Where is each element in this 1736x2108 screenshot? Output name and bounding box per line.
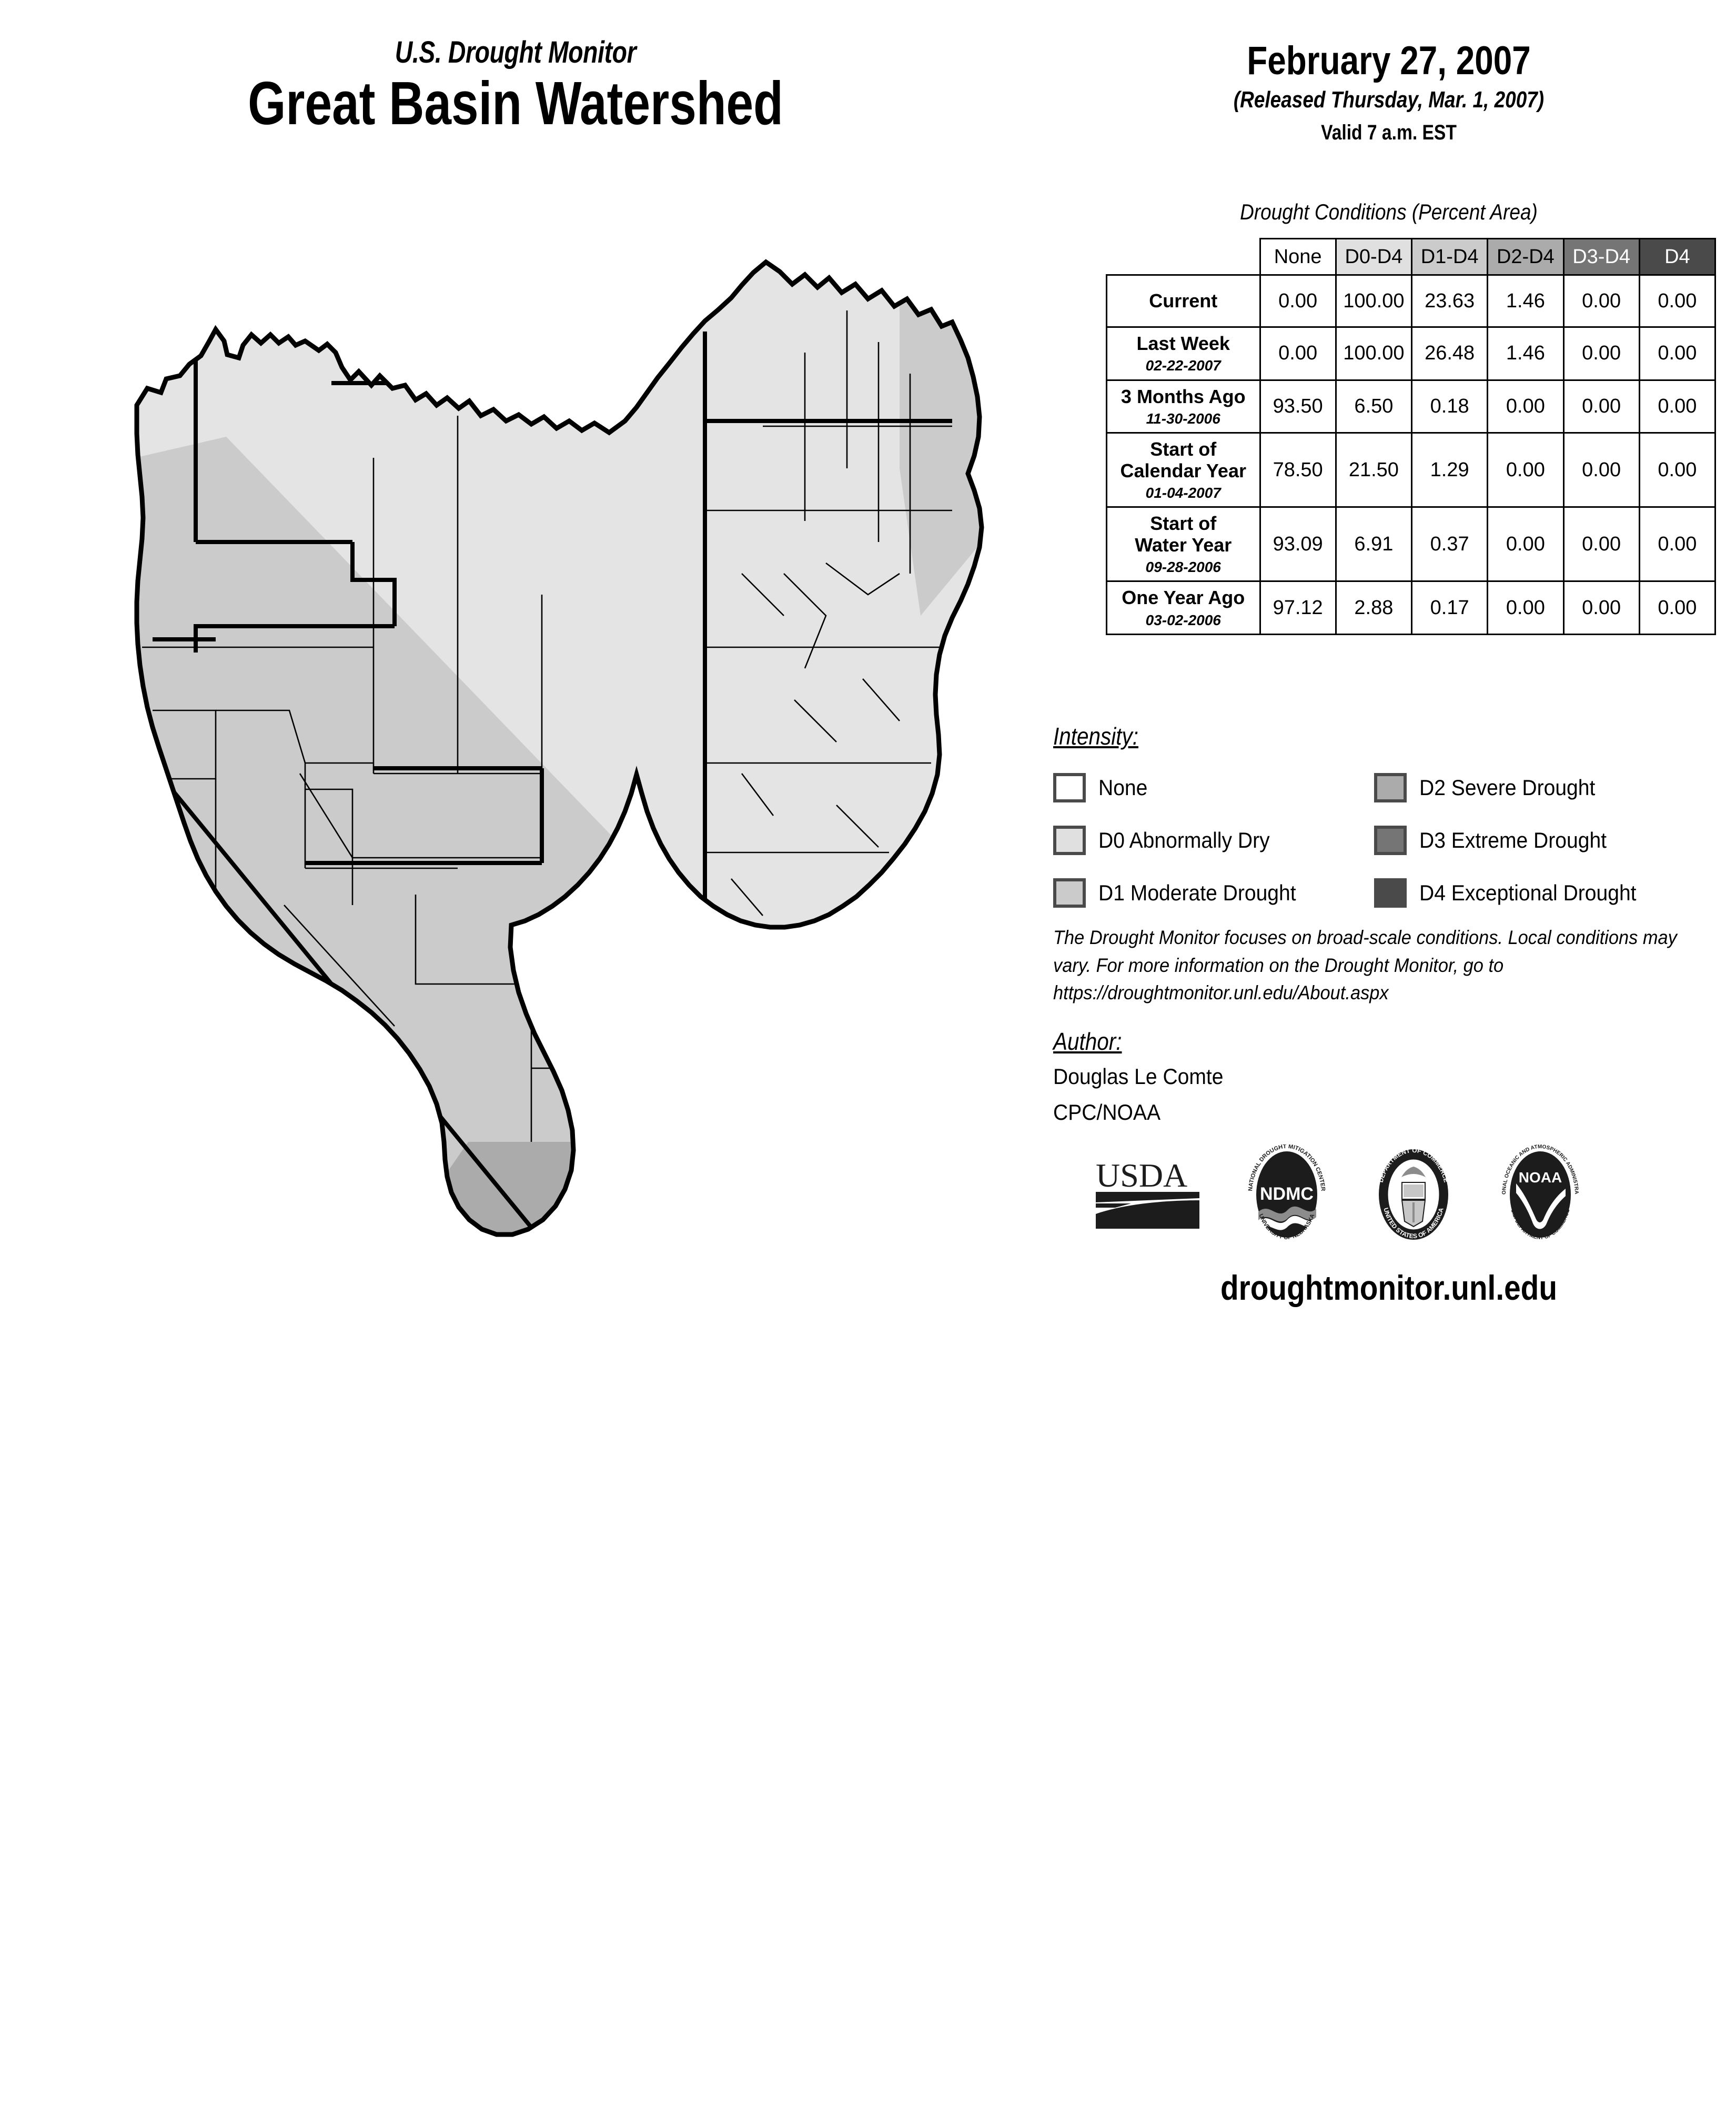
- svg-text:NDMC: NDMC: [1260, 1184, 1314, 1204]
- legend-label-d0: D0 Abnormally Dry: [1098, 829, 1270, 851]
- site-url[interactable]: droughtmonitor.unl.edu: [1090, 1270, 1687, 1305]
- column-header-d1-d4: D1-D4: [1412, 239, 1488, 275]
- region-title: Great Basin Watershed: [103, 72, 928, 134]
- cell-d0-d4: 100.00: [1336, 275, 1411, 327]
- row-label-one-year-ago: One Year Ago 03-02-2006: [1107, 581, 1260, 635]
- cell-d4: 0.00: [1639, 581, 1715, 635]
- map-title-block: U.S. Drought Monitor Great Basin Watersh…: [0, 37, 1031, 134]
- date-block: February 27, 2007 (Released Thursday, Ma…: [1042, 41, 1736, 143]
- cell-d2-d4: 0.00: [1488, 433, 1563, 507]
- row-label-date: 02-22-2007: [1109, 357, 1257, 374]
- cell-d0-d4: 21.50: [1336, 433, 1411, 507]
- row-label-3-months-ago: 3 Months Ago 11-30-2006: [1107, 380, 1260, 433]
- column-header-d4: D4: [1639, 239, 1715, 275]
- legend-label-d3: D3 Extreme Drought: [1419, 829, 1607, 851]
- legend-item-d3: D3 Extreme Drought: [1374, 819, 1736, 862]
- cell-d3-d4: 0.00: [1563, 327, 1639, 380]
- table-row: Current 0.00 100.00 23.63 1.46 0.00 0.00: [1107, 275, 1715, 327]
- row-label-text: Start of Calendar Year: [1121, 438, 1246, 481]
- cell-d4: 0.00: [1639, 433, 1715, 507]
- intensity-heading: Intensity:: [1053, 722, 1138, 750]
- cell-d0-d4: 6.91: [1336, 507, 1411, 581]
- cell-d2-d4: 0.00: [1488, 581, 1563, 635]
- legend-label-d1: D1 Moderate Drought: [1098, 882, 1296, 904]
- report-date: February 27, 2007: [1097, 41, 1681, 81]
- cell-d0-d4: 6.50: [1336, 380, 1411, 433]
- row-label-start-of-water-year: Start of Water Year 09-28-2006: [1107, 507, 1260, 581]
- cell-none: 0.00: [1260, 327, 1336, 380]
- cell-d4: 0.00: [1639, 507, 1715, 581]
- row-label-date: 09-28-2006: [1109, 559, 1257, 575]
- legend-item-none: None: [1053, 766, 1311, 809]
- cell-d4: 0.00: [1639, 380, 1715, 433]
- table-caption: Drought Conditions (Percent Area): [1083, 201, 1694, 223]
- cell-d1-d4: 0.37: [1412, 507, 1488, 581]
- valid-time: Valid 7 a.m. EST: [1097, 122, 1681, 143]
- cell-d4: 0.00: [1639, 275, 1715, 327]
- cell-d2-d4: 1.46: [1488, 275, 1563, 327]
- doc-logo: DEPARTMENT OF COMMERCE UNITED STATES OF …: [1369, 1145, 1458, 1247]
- legend-column-left: None D0 Abnormally Dry D1 Moderate Droug…: [1053, 766, 1311, 924]
- cell-d0-d4: 100.00: [1336, 327, 1411, 380]
- svg-text:USDA: USDA: [1096, 1157, 1187, 1194]
- author-org: CPC/NOAA: [1053, 1100, 1160, 1125]
- row-label-text: One Year Ago: [1122, 587, 1245, 608]
- legend-item-d2: D2 Severe Drought: [1374, 766, 1736, 809]
- table-header-row: None D0-D4 D1-D4 D2-D4 D3-D4 D4: [1107, 239, 1715, 275]
- row-label-current: Current: [1107, 275, 1260, 327]
- row-label-text: 3 Months Ago: [1121, 386, 1246, 407]
- ndmc-logo: NDMC NATIONAL DROUGHT MITIGATION CENTER …: [1245, 1145, 1329, 1247]
- drought-map[interactable]: [58, 247, 1068, 1279]
- ndmc-logo-icon: NDMC NATIONAL DROUGHT MITIGATION CENTER …: [1245, 1145, 1329, 1244]
- cell-d1-d4: 23.63: [1412, 275, 1488, 327]
- map-svg[interactable]: [58, 247, 1068, 1279]
- cell-d2-d4: 0.00: [1488, 507, 1563, 581]
- row-label-date: 01-04-2007: [1109, 485, 1257, 501]
- legend-item-d1: D1 Moderate Drought: [1053, 871, 1311, 915]
- column-header-none: None: [1260, 239, 1336, 275]
- row-label-text: Last Week: [1137, 333, 1230, 354]
- cell-d1-d4: 26.48: [1412, 327, 1488, 380]
- cell-d3-d4: 0.00: [1563, 581, 1639, 635]
- cell-d1-d4: 0.18: [1412, 380, 1488, 433]
- table-corner-spacer: [1107, 239, 1260, 275]
- table-row: One Year Ago 03-02-2006 97.12 2.88 0.17 …: [1107, 581, 1715, 635]
- drought-conditions-table: None D0-D4 D1-D4 D2-D4 D3-D4 D4 Current …: [1106, 238, 1716, 635]
- cell-d3-d4: 0.00: [1563, 275, 1639, 327]
- row-label-last-week: Last Week 02-22-2007: [1107, 327, 1260, 380]
- swatch-d1-icon: [1053, 878, 1086, 908]
- swatch-d3-icon: [1374, 826, 1407, 855]
- cell-d1-d4: 0.17: [1412, 581, 1488, 635]
- swatch-none-icon: [1053, 773, 1086, 802]
- cell-none: 93.09: [1260, 507, 1336, 581]
- release-date: (Released Thursday, Mar. 1, 2007): [1097, 88, 1681, 112]
- row-label-text: Start of Water Year: [1135, 513, 1232, 555]
- usda-logo-icon: USDA: [1094, 1155, 1205, 1234]
- disclaimer-text: The Drought Monitor focuses on broad-sca…: [1053, 924, 1684, 1007]
- cell-none: 97.12: [1260, 581, 1336, 635]
- row-label-text: Current: [1149, 290, 1217, 312]
- legend-label-d2: D2 Severe Drought: [1419, 777, 1595, 799]
- column-header-d0-d4: D0-D4: [1336, 239, 1411, 275]
- cell-d2-d4: 1.46: [1488, 327, 1563, 380]
- cell-d4: 0.00: [1639, 327, 1715, 380]
- swatch-d0-icon: [1053, 826, 1086, 855]
- drought-monitor-page: U.S. Drought Monitor Great Basin Watersh…: [0, 0, 1736, 1342]
- author-heading: Author:: [1053, 1027, 1122, 1056]
- legend-item-d0: D0 Abnormally Dry: [1053, 819, 1311, 862]
- noaa-logo: NOAA NATIONAL OCEANIC AND ATMOSPHERIC AD…: [1498, 1145, 1582, 1247]
- legend-label-none: None: [1098, 777, 1147, 799]
- swatch-d4-icon: [1374, 878, 1407, 908]
- noaa-logo-icon: NOAA NATIONAL OCEANIC AND ATMOSPHERIC AD…: [1498, 1145, 1582, 1244]
- cell-none: 93.50: [1260, 380, 1336, 433]
- column-header-d3-d4: D3-D4: [1563, 239, 1639, 275]
- cell-d2-d4: 0.00: [1488, 380, 1563, 433]
- row-label-start-of-calendar-year: Start of Calendar Year 01-04-2007: [1107, 433, 1260, 507]
- row-label-date: 03-02-2006: [1109, 612, 1257, 628]
- table-row: Start of Water Year 09-28-2006 93.09 6.9…: [1107, 507, 1715, 581]
- right-panel: February 27, 2007 (Released Thursday, Ma…: [1042, 0, 1736, 1342]
- author-name: Douglas Le Comte: [1053, 1064, 1224, 1089]
- cell-d3-d4: 0.00: [1563, 433, 1639, 507]
- cell-d3-d4: 0.00: [1563, 507, 1639, 581]
- doc-logo-icon: DEPARTMENT OF COMMERCE UNITED STATES OF …: [1369, 1145, 1458, 1244]
- column-header-d2-d4: D2-D4: [1488, 239, 1563, 275]
- table-row: 3 Months Ago 11-30-2006 93.50 6.50 0.18 …: [1107, 380, 1715, 433]
- program-title: U.S. Drought Monitor: [103, 37, 928, 69]
- swatch-d2-icon: [1374, 773, 1407, 802]
- usda-logo: USDA: [1094, 1155, 1205, 1237]
- table-row: Last Week 02-22-2007 0.00 100.00 26.48 1…: [1107, 327, 1715, 380]
- svg-text:NOAA: NOAA: [1519, 1169, 1562, 1186]
- table-row: Start of Calendar Year 01-04-2007 78.50 …: [1107, 433, 1715, 507]
- legend-item-d4: D4 Exceptional Drought: [1374, 871, 1736, 915]
- legend-label-d4: D4 Exceptional Drought: [1419, 882, 1637, 904]
- row-label-date: 11-30-2006: [1109, 410, 1257, 427]
- cell-d0-d4: 2.88: [1336, 581, 1411, 635]
- partner-logos: USDA NDMC NATIONAL DROUGHT MITIGATION C: [1052, 1143, 1736, 1248]
- cell-none: 0.00: [1260, 275, 1336, 327]
- cell-d1-d4: 1.29: [1412, 433, 1488, 507]
- cell-none: 78.50: [1260, 433, 1336, 507]
- cell-d3-d4: 0.00: [1563, 380, 1639, 433]
